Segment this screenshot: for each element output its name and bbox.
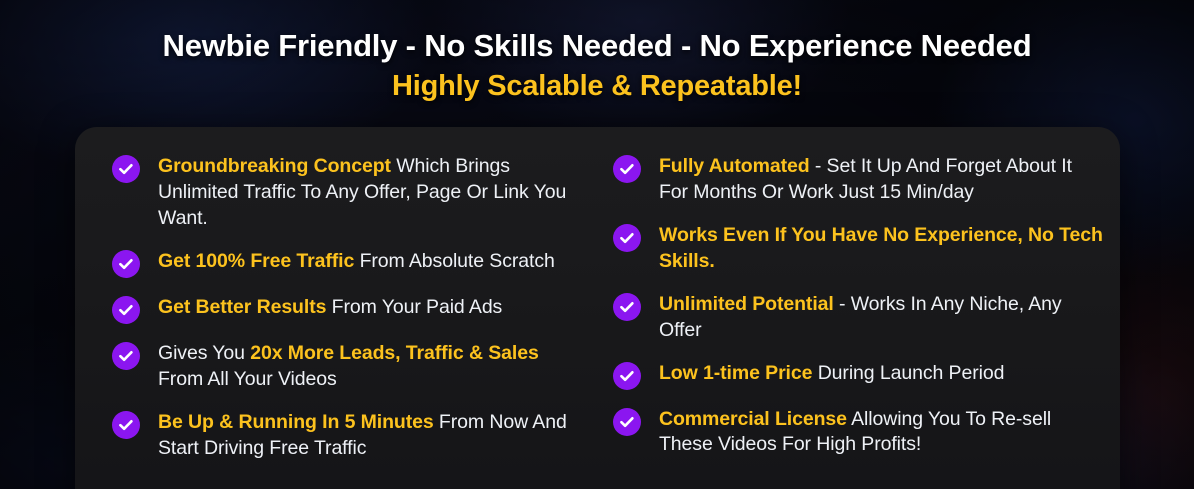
check-circle-icon (613, 408, 641, 436)
feature-text: Unlimited Potential - Works In Any Niche… (659, 291, 1105, 344)
check-circle-icon (112, 411, 140, 439)
feature-rest: From All Your Videos (158, 368, 337, 390)
feature-highlight: Get 100% Free Traffic (158, 250, 354, 272)
feature-highlight: Low 1-time Price (659, 362, 812, 384)
check-circle-icon (112, 250, 140, 278)
feature-item: Low 1-time Price During Launch Period (613, 360, 1105, 390)
feature-rest: From Your Paid Ads (326, 296, 502, 318)
feature-text: Get 100% Free Traffic From Absolute Scra… (158, 248, 555, 275)
feature-item: Unlimited Potential - Works In Any Niche… (613, 291, 1105, 344)
check-circle-icon (613, 362, 641, 390)
headline-primary: Newbie Friendly - No Skills Needed - No … (0, 28, 1194, 64)
features-columns: Groundbreaking Concept Which Brings Unli… (75, 127, 1120, 477)
headline-block: Newbie Friendly - No Skills Needed - No … (0, 28, 1194, 103)
feature-highlight: Be Up & Running In 5 Minutes (158, 411, 434, 433)
feature-rest: From Absolute Scratch (354, 250, 554, 272)
feature-text: Get Better Results From Your Paid Ads (158, 294, 502, 321)
check-circle-icon (613, 155, 641, 183)
check-circle-icon (112, 296, 140, 324)
feature-item: Commercial License Allowing You To Re-se… (613, 406, 1105, 459)
feature-item: Get Better Results From Your Paid Ads (112, 294, 583, 324)
features-column-right: Fully Automated - Set It Up And Forget A… (597, 153, 1119, 477)
feature-highlight: Fully Automated (659, 155, 810, 177)
feature-highlight: 20x More Leads, Traffic & Sales (250, 342, 538, 364)
feature-text: Works Even If You Have No Experience, No… (659, 222, 1105, 275)
headline-secondary: Highly Scalable & Repeatable! (0, 69, 1194, 104)
features-card: Groundbreaking Concept Which Brings Unli… (75, 127, 1120, 489)
feature-highlight: Works Even If You Have No Experience, No… (659, 224, 1103, 272)
feature-highlight: Commercial License (659, 408, 847, 430)
feature-text: Gives You 20x More Leads, Traffic & Sale… (158, 340, 583, 393)
feature-item: Get 100% Free Traffic From Absolute Scra… (112, 248, 583, 278)
feature-highlight: Get Better Results (158, 296, 326, 318)
feature-item: Fully Automated - Set It Up And Forget A… (613, 153, 1105, 206)
feature-item: Groundbreaking Concept Which Brings Unli… (112, 153, 583, 232)
check-circle-icon (112, 342, 140, 370)
check-circle-icon (613, 224, 641, 252)
feature-text: Groundbreaking Concept Which Brings Unli… (158, 153, 583, 232)
check-circle-icon (613, 293, 641, 321)
feature-text: Fully Automated - Set It Up And Forget A… (659, 153, 1105, 206)
feature-item: Gives You 20x More Leads, Traffic & Sale… (112, 340, 583, 393)
feature-highlight: Groundbreaking Concept (158, 155, 391, 177)
check-circle-icon (112, 155, 140, 183)
feature-item: Works Even If You Have No Experience, No… (613, 222, 1105, 275)
feature-rest: During Launch Period (812, 362, 1004, 384)
features-column-left: Groundbreaking Concept Which Brings Unli… (75, 153, 597, 477)
feature-text: Commercial License Allowing You To Re-se… (659, 406, 1105, 459)
feature-text: Be Up & Running In 5 Minutes From Now An… (158, 409, 583, 462)
feature-lead: Gives You (158, 342, 250, 364)
feature-item: Be Up & Running In 5 Minutes From Now An… (112, 409, 583, 462)
feature-highlight: Unlimited Potential (659, 293, 834, 315)
feature-text: Low 1-time Price During Launch Period (659, 360, 1004, 387)
